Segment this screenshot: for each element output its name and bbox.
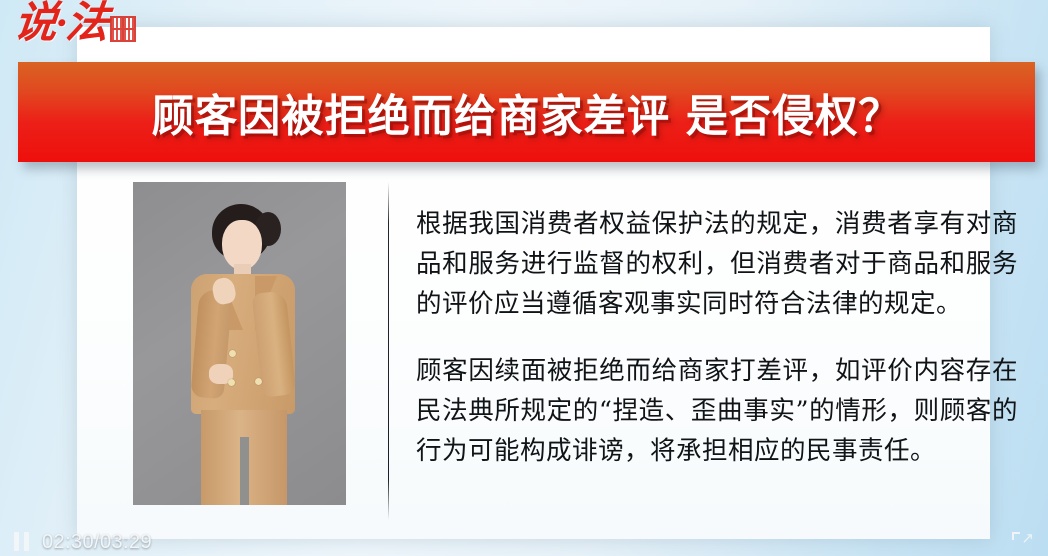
program-logo-text: 说·法: [12, 2, 110, 45]
program-logo: 说·法: [14, 2, 136, 45]
text-column: 根据我国消费者权益保护法的规定，消费者享有对商品和服务进行监督的权利，但消费者对…: [389, 182, 1018, 471]
headline-title: 顾客因被拒绝而给商家差评 是否侵权？: [151, 80, 901, 144]
headline-banner: 顾客因被拒绝而给商家差评 是否侵权？: [18, 62, 1035, 162]
portrait-photo: [133, 182, 346, 505]
time-display: 02:30/03:29: [42, 533, 152, 552]
pause-icon[interactable]: [14, 532, 29, 551]
seal-stamp-icon: [110, 16, 136, 42]
body-paragraph: 根据我国消费者权益保护法的规定，消费者享有对商品和服务进行监督的权利，但消费者对…: [416, 204, 1018, 324]
slide-body: 根据我国消费者权益保护法的规定，消费者享有对商品和服务进行监督的权利，但消费者对…: [133, 182, 1018, 520]
body-paragraph: 顾客因续面被拒绝而给商家打差评，如评价内容存在民法典所规定的“捏造、歪曲事实”的…: [416, 351, 1018, 471]
video-player-frame[interactable]: 说·法 顾客因被拒绝而给商家差评 是否侵权？: [0, 0, 1048, 556]
fullscreen-expand-icon[interactable]: ↗: [1012, 530, 1034, 548]
